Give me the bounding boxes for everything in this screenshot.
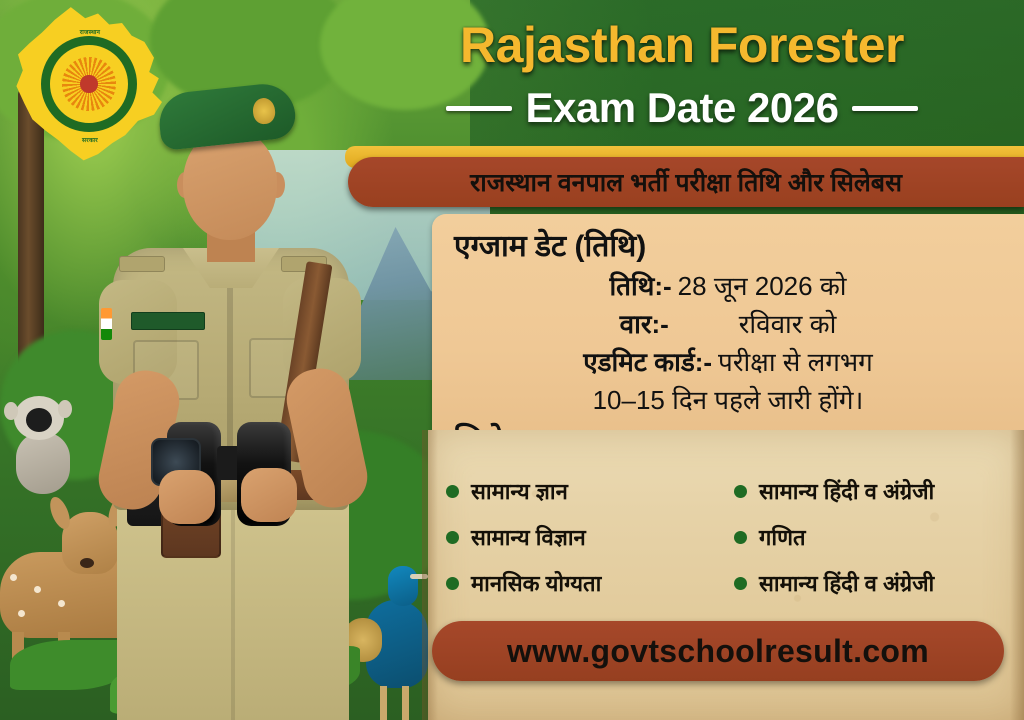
exam-day-value: रविवार को — [739, 305, 837, 341]
exam-day-row: वार:- रविवार को — [432, 305, 1024, 341]
list-item: सामान्य हिंदी व अंग्रेजी — [734, 476, 1012, 506]
india-flag-patch-icon — [101, 308, 112, 340]
exam-date-row: तिथि:- 28 जून 2026 को — [432, 267, 1024, 303]
officer-hand-right — [241, 468, 297, 522]
exam-date-card: एग्जाम डेट (तिथि) तिथि:- 28 जून 2026 को … — [432, 214, 1024, 436]
bullet-icon — [446, 485, 459, 498]
bullet-icon — [734, 485, 747, 498]
exam-date-label: तिथि:- — [609, 267, 671, 303]
bullet-icon — [446, 577, 459, 590]
bullet-icon — [734, 577, 747, 590]
list-item: सामान्य ज्ञान — [446, 476, 724, 506]
list-item: मानसिक योग्यता — [446, 568, 724, 598]
page-title: Rajasthan Forester — [340, 16, 1024, 74]
name-badge — [131, 312, 205, 330]
epaulette-left — [119, 256, 165, 272]
syllabus-list: सामान्य ज्ञान सामान्य हिंदी व अंग्रेजी स… — [446, 476, 1012, 598]
syllabus-item-label: मानसिक योग्यता — [471, 568, 601, 598]
trouser-seam — [231, 510, 235, 720]
subtitle-row: Exam Date 2026 — [340, 84, 1024, 132]
admit-card-line2: 10–15 दिन पहले जारी होंगे। — [593, 381, 864, 417]
header: Rajasthan Forester Exam Date 2026 — [340, 0, 1024, 152]
hindi-banner: राजस्थान वनपाल भर्ती परीक्षा तिथि और सिल… — [348, 157, 1024, 207]
website-url-button[interactable]: www.govtschoolresult.com — [432, 621, 1004, 681]
exam-day-label: वार:- — [620, 305, 669, 341]
admit-card-label: एडमिट कार्ड:- — [583, 343, 712, 379]
list-item: सामान्य हिंदी व अंग्रेजी — [734, 568, 1012, 598]
syllabus-item-label: सामान्य हिंदी व अंग्रेजी — [759, 568, 934, 598]
page-subtitle: Exam Date 2026 — [526, 84, 839, 132]
admit-card-value: परीक्षा से लगभग — [718, 343, 873, 379]
exam-date-value: 28 जून 2026 को — [678, 267, 847, 303]
hindi-banner-text: राजस्थान वनपाल भर्ती परीक्षा तिथि और सिल… — [470, 165, 902, 199]
exam-date-heading: एग्जाम डेट (तिथि) — [454, 224, 1024, 265]
officer-hand-left — [159, 470, 215, 524]
rule-left — [446, 106, 512, 111]
parchment-torn-right-edge — [1010, 430, 1024, 720]
bullet-icon — [734, 531, 747, 544]
list-item: सामान्य विज्ञान — [446, 522, 724, 552]
syllabus-item-label: सामान्य हिंदी व अंग्रेजी — [759, 476, 934, 506]
list-item: गणित — [734, 522, 1012, 552]
syllabus-item-label: गणित — [759, 522, 806, 552]
forest-officer-figure — [55, 70, 385, 720]
rule-right — [852, 106, 918, 111]
green-beret-cap — [156, 81, 297, 151]
syllabus-item-label: सामान्य ज्ञान — [471, 476, 568, 506]
website-url-label: www.govtschoolresult.com — [507, 633, 929, 670]
poster-canvas: राजस्थान सरकार Rajasthan Forester Exam D… — [0, 0, 1024, 720]
bullet-icon — [446, 531, 459, 544]
emblem-top-text: राजस्थान — [10, 28, 170, 36]
syllabus-item-label: सामान्य विज्ञान — [471, 522, 586, 552]
admit-card-row-2: 10–15 दिन पहले जारी होंगे। — [432, 381, 1024, 417]
admit-card-row: एडमिट कार्ड:- परीक्षा से लगभग — [432, 343, 1024, 379]
parchment-torn-left-edge — [422, 430, 438, 720]
